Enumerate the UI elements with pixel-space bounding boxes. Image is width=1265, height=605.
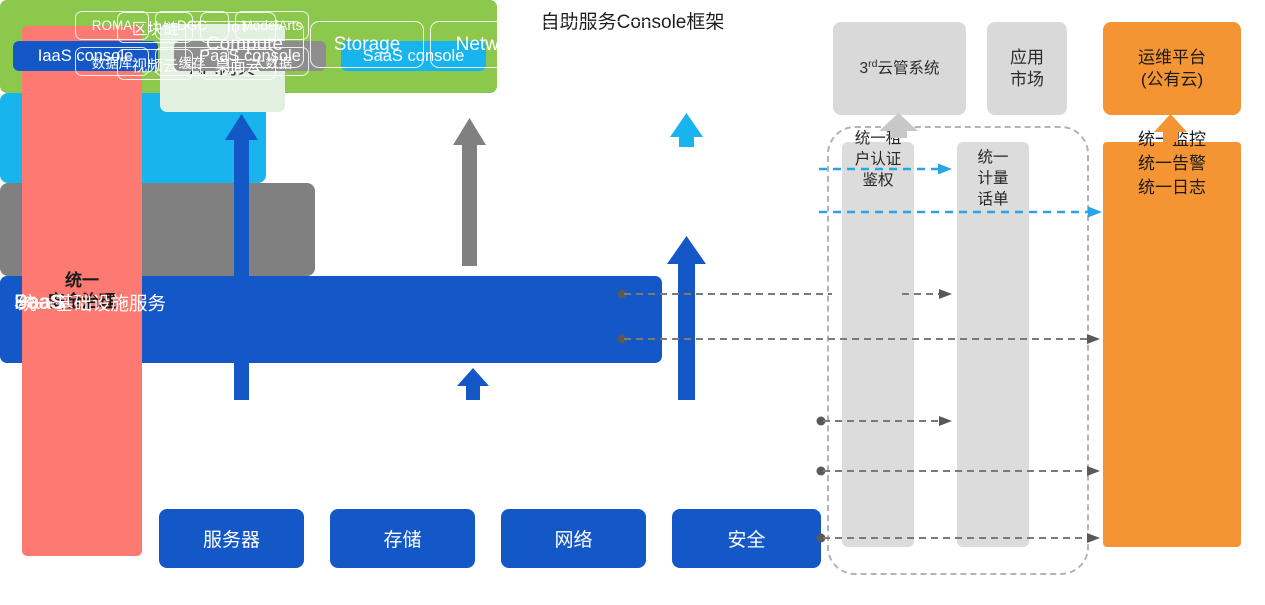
app-market-line1: 应用 bbox=[1010, 47, 1044, 68]
arrow-saas-to-console bbox=[670, 113, 703, 147]
third-party-cloud-mgmt-block: 3rd云管系统 bbox=[833, 22, 966, 115]
app-market-block: 应用 市场 bbox=[987, 22, 1067, 115]
unified-tenant-auth-column bbox=[842, 142, 914, 547]
third-party-suffix: 云管系统 bbox=[877, 60, 939, 77]
architecture-diagram: 统一 安全治理 API网关 自助服务Console框架 IaaS console… bbox=[0, 0, 1265, 605]
app-market-line2: 市场 bbox=[1010, 69, 1044, 90]
ops-line1: 统一监控 bbox=[1103, 128, 1241, 152]
third-party-cloud-mgmt-label: 3rd云管系统 bbox=[859, 58, 939, 79]
hardware-server-block: 服务器 bbox=[159, 509, 304, 568]
ops-platform-line1: 运维平台 bbox=[1138, 47, 1206, 68]
paas-chip-database: 数据库 bbox=[75, 47, 149, 76]
auth-line3: 鉴权 bbox=[842, 171, 914, 192]
hardware-security-block: 安全 bbox=[672, 509, 821, 568]
meter-line2: 计量 bbox=[957, 169, 1029, 190]
infra-chip-network: Network bbox=[430, 21, 551, 68]
arrow-paas-to-console bbox=[453, 118, 486, 266]
ops-line3: 统一日志 bbox=[1103, 176, 1241, 200]
infra-chip-cce: CCE bbox=[557, 21, 658, 68]
infra-chip-compute: Compute bbox=[185, 21, 304, 68]
unified-tenant-auth-text: 统一租 户认证 鉴权 bbox=[842, 129, 914, 192]
hardware-network-block: 网络 bbox=[501, 509, 646, 568]
ops-line2: 统一告警 bbox=[1103, 152, 1241, 176]
auth-line2: 户认证 bbox=[842, 150, 914, 171]
third-party-prefix: 3 bbox=[859, 60, 868, 77]
security-governance-line1: 统一 bbox=[48, 270, 116, 291]
infra-chip-storage: Storage bbox=[310, 21, 424, 68]
unified-infrastructure-label: 统一基础设施服务 bbox=[18, 290, 166, 316]
ops-platform-block: 运维平台 (公有云) bbox=[1103, 22, 1241, 115]
auth-line1: 统一租 bbox=[842, 129, 914, 150]
ops-monitoring-text: 统一监控 统一告警 统一日志 bbox=[1103, 128, 1241, 199]
unified-metering-text: 统一 计量 话单 bbox=[957, 148, 1029, 211]
arrow-infra-to-saas bbox=[667, 236, 706, 400]
ops-platform-line2: (公有云) bbox=[1138, 69, 1206, 90]
ops-monitoring-column bbox=[1103, 142, 1241, 547]
arrow-infra-to-paas bbox=[457, 368, 489, 400]
meter-line3: 话单 bbox=[957, 190, 1029, 211]
meter-line1: 统一 bbox=[957, 148, 1029, 169]
hardware-storage-block: 存储 bbox=[330, 509, 475, 568]
paas-chip-roma: ROMA bbox=[75, 11, 149, 40]
